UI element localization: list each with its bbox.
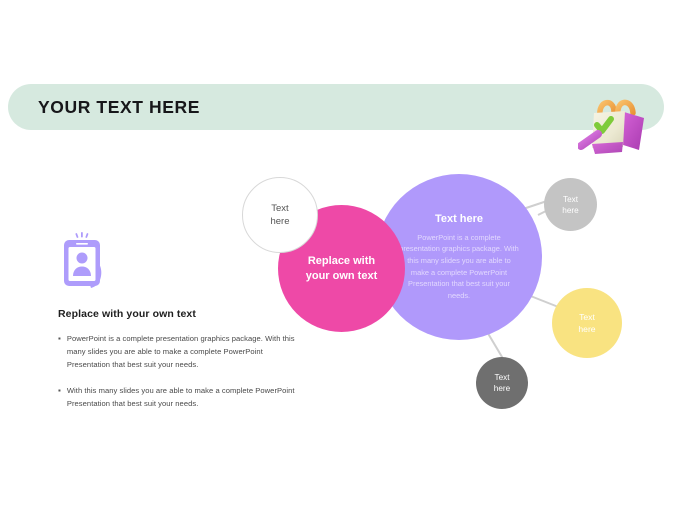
bubble-body: PowerPoint is a complete presentation gr…	[399, 232, 519, 302]
bubble-label-line1: Replace with	[308, 255, 375, 267]
bubble-label-line2: here	[494, 384, 510, 393]
bubble-label: Text here	[270, 202, 289, 228]
bullet-marker-icon: ▪	[58, 384, 61, 397]
list-item: ▪ With this many slides you are able to …	[58, 384, 308, 410]
bullet-text: With this many slides you are able to ma…	[67, 384, 308, 410]
bullet-text: PowerPoint is a complete presentation gr…	[67, 332, 308, 371]
bubble-node-yellow[interactable]: Text here	[552, 288, 622, 358]
bubble-label-line2: here	[270, 216, 289, 227]
bubble-label-line2: here	[578, 324, 595, 334]
bubble-label: Text here	[562, 194, 578, 216]
page-title: YOUR TEXT HERE	[38, 94, 200, 120]
list-item: ▪ PowerPoint is a complete presentation …	[58, 332, 308, 371]
bubble-title: Text here	[435, 213, 483, 225]
bubble-node-gray-dark[interactable]: Text here	[476, 357, 528, 409]
bubble-label-line2: here	[562, 206, 578, 215]
bubble-label-line1: Text	[494, 373, 509, 382]
bubble-label-line2: your own text	[306, 270, 378, 282]
bubble-label: Replace with your own text	[306, 254, 378, 284]
left-text-block: Replace with your own text ▪ PowerPoint …	[58, 308, 308, 423]
bubble-label-line1: Text	[579, 312, 595, 322]
bubble-node-white[interactable]: Text here	[242, 177, 318, 253]
bullet-marker-icon: ▪	[58, 332, 61, 345]
bubble-label-line1: Text	[563, 195, 578, 204]
left-heading: Replace with your own text	[58, 308, 308, 320]
phone-profile-in-hand-icon	[56, 232, 108, 290]
slide-canvas: YOUR TEXT HERE	[0, 0, 680, 510]
bubble-label-line1: Text	[271, 203, 288, 214]
bubble-label: Text here	[578, 311, 595, 335]
bubble-label: Text here	[494, 372, 510, 394]
shopping-bag-3d-icon	[578, 88, 654, 160]
bubble-node-gray-light[interactable]: Text here	[544, 178, 597, 231]
